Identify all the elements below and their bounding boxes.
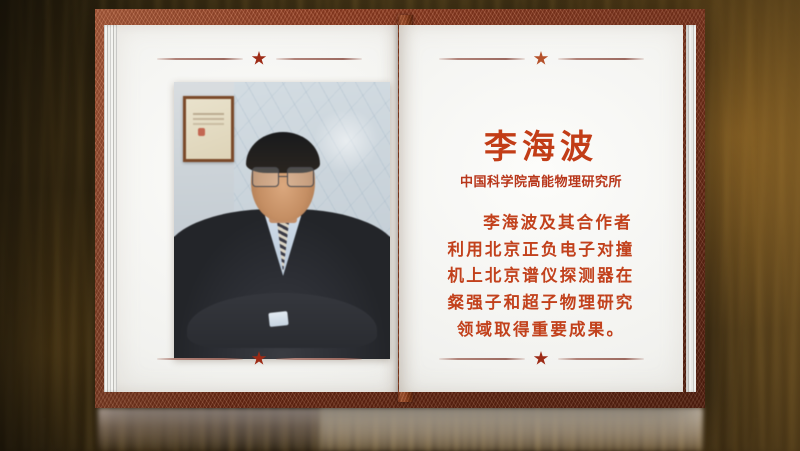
citation-line: 利用北京正负电子对撞 — [413, 237, 669, 264]
laureate-name: 李海波 — [399, 120, 683, 168]
citation-line: 李海波及其合作者 — [413, 210, 669, 237]
ornament-rule-right — [558, 358, 644, 360]
ornament-rule-left — [157, 58, 243, 60]
citation-line: 机上北京谱仪探测器在 — [413, 263, 669, 290]
portrait-photo-image — [174, 82, 390, 359]
ornament-rule-left — [439, 358, 525, 360]
ornament-rule-right — [276, 58, 362, 60]
ornament-top-left-page — [117, 51, 401, 66]
laureate-affiliation: 中国科学院高能物理研究所 — [399, 171, 683, 190]
ornament-bottom-right-page — [399, 351, 683, 366]
ornament-top-right-page — [399, 51, 683, 66]
ornament-rule-right — [558, 58, 644, 60]
photo-soft-focus — [174, 82, 390, 359]
ornament-rule-right — [276, 358, 362, 360]
portrait-photo — [174, 82, 390, 359]
left-page — [117, 25, 401, 392]
ornament-rule-left — [157, 358, 243, 360]
citation-line: 粲强子和超子物理研究 — [413, 290, 669, 317]
star-icon — [534, 51, 549, 66]
page-edges-right — [686, 25, 696, 392]
book-reflection-right — [320, 408, 702, 451]
laureate-citation: 李海波及其合作者 利用北京正负电子对撞 机上北京谱仪探测器在 粲强子和超子物理研… — [413, 210, 669, 344]
open-book: 李海波 中国科学院高能物理研究所 李海波及其合作者 利用北京正负电子对撞 机上北… — [95, 9, 705, 408]
right-page: 李海波 中国科学院高能物理研究所 李海波及其合作者 利用北京正负电子对撞 机上北… — [399, 25, 683, 392]
citation-line: 领域取得重要成果。 — [413, 317, 669, 344]
star-icon — [252, 351, 267, 366]
star-icon — [534, 351, 549, 366]
ornament-bottom-left-page — [117, 351, 401, 366]
ornament-rule-left — [439, 58, 525, 60]
star-icon — [252, 51, 267, 66]
